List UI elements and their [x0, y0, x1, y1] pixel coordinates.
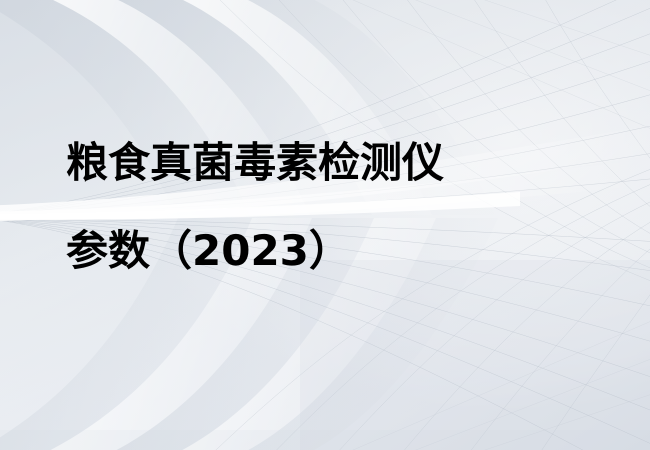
title-banner: 粮食真菌毒素检测仪 参数（2023）	[0, 0, 650, 450]
bg-lower-right-shade	[300, 260, 650, 450]
title-line-1: 粮食真菌毒素检测仪	[66, 140, 606, 186]
bg-edge-shade-bottom	[0, 430, 650, 450]
title-block: 粮食真菌毒素检测仪 参数（2023）	[66, 140, 606, 274]
title-line-2: 参数（2023）	[66, 228, 606, 274]
